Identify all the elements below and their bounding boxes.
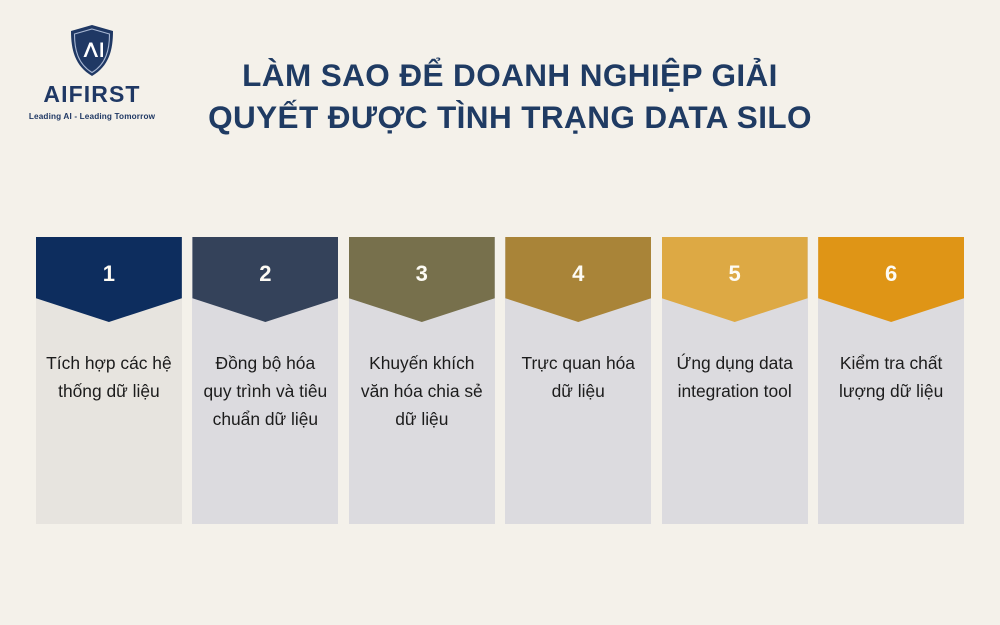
- step-card-6-header: 6: [818, 237, 964, 322]
- step-card-1[interactable]: 1 Tích hợp các hệ thống dữ liệu: [36, 237, 182, 524]
- step-card-5-number: 5: [729, 263, 741, 285]
- step-card-4-header: 4: [505, 237, 651, 322]
- brand-tagline: Leading AI - Leading Tomorrow: [29, 113, 155, 121]
- header-banner: AIFIRST Leading AI - Leading Tomorrow LÀ…: [0, 0, 1000, 175]
- step-card-2-number: 2: [259, 263, 271, 285]
- step-card-3-header: 3: [349, 237, 495, 322]
- step-card-5-header: 5: [662, 237, 808, 322]
- step-card-3-number: 3: [416, 263, 428, 285]
- step-card-4[interactable]: 4 Trực quan hóa dữ liệu: [505, 237, 651, 524]
- step-card-5[interactable]: 5 Ứng dụng data integration tool: [662, 237, 808, 524]
- step-card-3[interactable]: 3 Khuyến khích văn hóa chia sẻ dữ liệu: [349, 237, 495, 524]
- page-title: LÀM SAO ĐỂ DOANH NGHIỆP GIẢI QUYẾT ĐƯỢC …: [180, 55, 840, 139]
- step-card-4-number: 4: [572, 263, 584, 285]
- brand-wordmark: AIFIRST: [43, 83, 140, 106]
- step-card-2-header: 2: [192, 237, 338, 322]
- brand-logo: AIFIRST Leading AI - Leading Tomorrow: [22, 24, 162, 134]
- shield-ai-icon: [69, 24, 115, 78]
- step-card-6[interactable]: 6 Kiểm tra chất lượng dữ liệu: [818, 237, 964, 524]
- step-card-5-label: Ứng dụng data integration tool: [662, 349, 808, 405]
- page-title-line-2: QUYẾT ĐƯỢC TÌNH TRẠNG DATA SILO: [180, 97, 840, 139]
- step-card-3-label: Khuyến khích văn hóa chia sẻ dữ liệu: [349, 349, 495, 434]
- step-card-2-label: Đồng bộ hóa quy trình và tiêu chuẩn dữ l…: [192, 349, 338, 434]
- step-card-1-label: Tích hợp các hệ thống dữ liệu: [36, 349, 182, 405]
- step-card-6-number: 6: [885, 263, 897, 285]
- step-card-6-label: Kiểm tra chất lượng dữ liệu: [818, 349, 964, 405]
- step-card-2[interactable]: 2 Đồng bộ hóa quy trình và tiêu chuẩn dữ…: [192, 237, 338, 524]
- page-title-line-1: LÀM SAO ĐỂ DOANH NGHIỆP GIẢI: [180, 55, 840, 97]
- step-card-1-number: 1: [103, 263, 115, 285]
- step-card-4-label: Trực quan hóa dữ liệu: [505, 349, 651, 405]
- steps-row: 1 Tích hợp các hệ thống dữ liệu 2 Đồng b…: [36, 237, 964, 524]
- step-card-1-header: 1: [36, 237, 182, 322]
